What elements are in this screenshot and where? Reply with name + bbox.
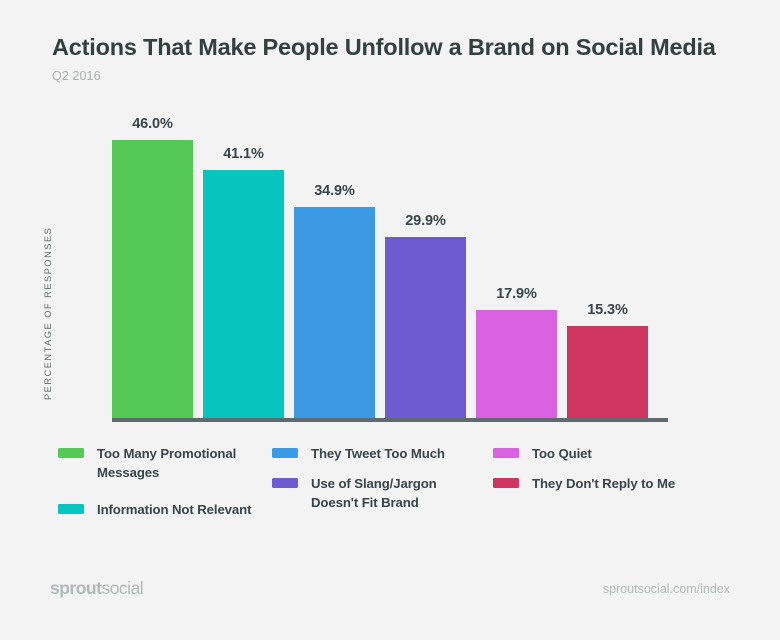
legend-item[interactable]: They Tweet Too Much [272, 444, 492, 463]
legend-color-swatch [58, 504, 84, 514]
legend-item-label: They Don't Reply to Me [532, 474, 712, 493]
bar[interactable] [112, 140, 193, 418]
x-axis-baseline [112, 418, 668, 422]
bar-value-label: 29.9% [385, 213, 466, 229]
legend-item[interactable]: Use of Slang/Jargon Doesn't Fit Brand [272, 474, 472, 512]
legend-item-label: Use of Slang/Jargon Doesn't Fit Brand [311, 474, 471, 512]
footer: sproutsocial sproutsocial.com/index [0, 578, 780, 618]
bar-chart-plot-area: 46.0%41.1%34.9%29.9%17.9%15.3% [112, 110, 668, 422]
legend-item-label: Too Quiet [532, 444, 712, 463]
bar[interactable] [385, 237, 466, 418]
sproutsocial-logo: sproutsocial [50, 578, 143, 599]
chart-header: Actions That Make People Unfollow a Bran… [52, 32, 752, 83]
legend-color-swatch [493, 478, 519, 488]
y-axis-label-text: PERCENTAGE OF RESPONSES [43, 170, 53, 400]
legend-item[interactable]: Information Not Relevant [58, 500, 308, 519]
bar-value-label: 15.3% [567, 302, 648, 318]
legend-color-swatch [272, 448, 298, 458]
bar[interactable] [294, 207, 375, 418]
legend-item-label: They Tweet Too Much [311, 444, 491, 463]
bar-series: 46.0%41.1%34.9%29.9%17.9%15.3% [112, 110, 668, 418]
footer-url: sproutsocial.com/index [603, 582, 730, 596]
legend-color-swatch [272, 478, 298, 488]
chart-subtitle: Q2 2016 [52, 69, 752, 83]
bar[interactable] [567, 326, 648, 418]
legend-color-swatch [58, 448, 84, 458]
bar-value-label: 17.9% [476, 286, 557, 302]
legend-item-label: Too Many Promotional Messages [97, 444, 272, 482]
chart-legend: Too Many Promotional MessagesInformation… [58, 444, 738, 524]
logo-social-text: social [101, 578, 143, 598]
page-title: Actions That Make People Unfollow a Bran… [52, 32, 752, 62]
legend-color-swatch [493, 448, 519, 458]
bar-value-label: 41.1% [203, 146, 284, 162]
bar[interactable] [476, 310, 557, 418]
bar[interactable] [203, 170, 284, 418]
bar-value-label: 34.9% [294, 183, 375, 199]
legend-item[interactable]: Too Quiet [493, 444, 713, 463]
y-axis-label: PERCENTAGE OF RESPONSES [43, 0, 53, 172]
legend-item[interactable]: Too Many Promotional Messages [58, 444, 273, 482]
logo-sprout-text: sprout [50, 578, 101, 598]
legend-item[interactable]: They Don't Reply to Me [493, 474, 713, 493]
bar-value-label: 46.0% [112, 116, 193, 132]
